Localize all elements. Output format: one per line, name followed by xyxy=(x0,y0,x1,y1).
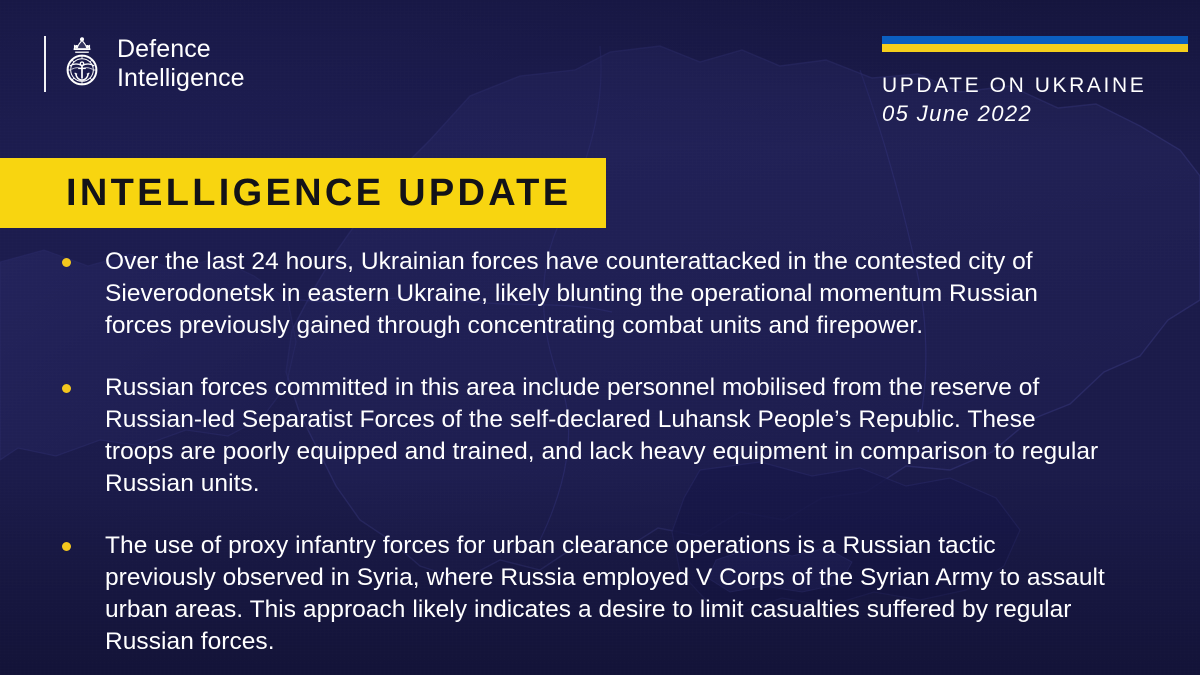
list-item: Over the last 24 hours, Ukrainian forces… xyxy=(62,246,1122,342)
list-item: Russian forces committed in this area in… xyxy=(62,372,1122,500)
defence-intelligence-crest-icon xyxy=(59,35,105,93)
ukraine-flag-bar-icon xyxy=(882,36,1188,52)
brand-name: Defence Intelligence xyxy=(117,35,245,93)
update-header-block: UPDATE ON UKRAINE 05 June 2022 xyxy=(882,36,1188,127)
update-date: 05 June 2022 xyxy=(882,101,1188,127)
bullet-dot-icon xyxy=(62,258,71,267)
brand-name-line2: Intelligence xyxy=(117,64,245,93)
list-item: The use of proxy infantry forces for urb… xyxy=(62,530,1122,658)
list-item-text: The use of proxy infantry forces for urb… xyxy=(105,530,1105,658)
list-item-text: Over the last 24 hours, Ukrainian forces… xyxy=(105,246,1105,342)
intelligence-update-graphic: Defence Intelligence UPDATE ON UKRAINE 0… xyxy=(0,0,1200,675)
bullet-list: Over the last 24 hours, Ukrainian forces… xyxy=(62,246,1122,658)
brand-lockup: Defence Intelligence xyxy=(44,34,245,94)
headline-banner: INTELLIGENCE UPDATE xyxy=(0,158,606,228)
bullet-dot-icon xyxy=(62,542,71,551)
bullet-dot-icon xyxy=(62,384,71,393)
update-title: UPDATE ON UKRAINE xyxy=(882,74,1188,98)
brand-divider xyxy=(44,36,46,92)
brand-name-line1: Defence xyxy=(117,35,245,64)
flag-stripe-blue xyxy=(882,36,1188,44)
flag-stripe-yellow xyxy=(882,44,1188,52)
list-item-text: Russian forces committed in this area in… xyxy=(105,372,1105,500)
headline-label: INTELLIGENCE UPDATE xyxy=(66,172,571,215)
